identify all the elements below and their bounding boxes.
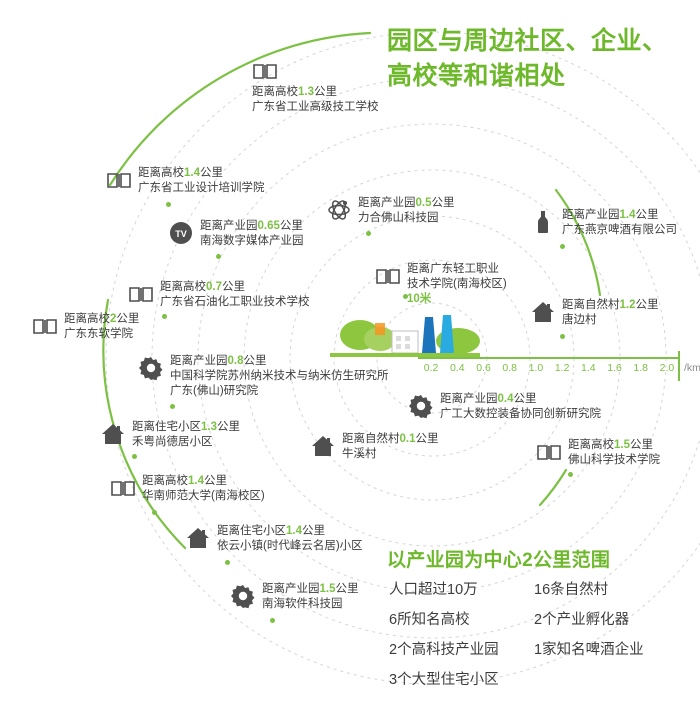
poi-unit: 公里 xyxy=(314,86,337,98)
poi-name: 牛溪村 xyxy=(342,448,377,460)
poi-name: 佛山科学技术学院 xyxy=(568,454,660,466)
poi-name: 唐边村 xyxy=(562,314,597,326)
poi-unit: 公里 xyxy=(204,475,227,487)
poi-unit: 公里 xyxy=(280,220,303,232)
summary-title: 以产业园为中心2公里范围 xyxy=(387,545,687,572)
axis-ticks: 0.2 0.4 0.6 0.8 1.0 1.2 1.4 1.6 1.8 2.0 xyxy=(418,362,680,374)
book-icon xyxy=(110,475,136,501)
poi-text: 距离住宅小区1.3公里 禾粤尚德居小区 xyxy=(132,420,240,450)
poi-guangdong-industrial-design-college[interactable]: 距离高校1.4公里 广东省工业设计培训学院 xyxy=(106,166,265,196)
poi-lihe-foshan-science-park[interactable]: 距离产业园0.5公里 力合佛山科技园 xyxy=(326,196,455,226)
book-icon xyxy=(375,263,401,289)
tv-icon: TV xyxy=(168,220,194,246)
poi-guangdong-petrochemical-school[interactable]: 距离高校0.7公里 广东省石油化工职业技术学校 xyxy=(128,280,310,310)
poi-distance-value: 0.65 xyxy=(258,220,280,232)
poi-text: 距离高校2公里 广东东软学院 xyxy=(64,312,139,342)
poi-prefix: 距离住宅小区 xyxy=(132,421,201,433)
summary-item: 6所知名高校 xyxy=(389,605,524,635)
poi-unit: 公里 xyxy=(302,525,325,537)
atom-icon xyxy=(326,197,352,223)
poi-name: 广东东软学院 xyxy=(64,328,133,340)
poi-name: 力合佛山科技园 xyxy=(358,212,439,224)
poi-prefix: 距离高校 xyxy=(160,281,206,293)
distance-axis: 0.2 0.4 0.6 0.8 1.0 1.2 1.4 1.6 1.8 2.0 … xyxy=(418,357,686,383)
poi-prefix: 距离产业园 xyxy=(200,220,258,232)
book-icon xyxy=(32,313,58,339)
poi-dot xyxy=(560,244,565,249)
poi-distance-value: 1.4 xyxy=(286,525,302,537)
poi-text: 距离高校0.7公里 广东省石油化工职业技术学校 xyxy=(160,280,310,310)
poi-name: 禾粤尚德居小区 xyxy=(132,436,213,448)
poi-distance-value: 0.7 xyxy=(206,281,222,293)
poi-dot xyxy=(170,404,175,409)
book-icon xyxy=(536,439,562,465)
poi-foshan-university[interactable]: 距离高校1.5公里 佛山科学技术学院 xyxy=(536,438,660,468)
axis-tick: 0.6 xyxy=(470,362,496,374)
poi-prefix: 距离产业园 xyxy=(170,355,228,367)
poi-name: 依云小镇(时代峰云名居)小区 xyxy=(217,540,363,552)
poi-prefix: 距离高校 xyxy=(138,167,184,179)
gear-icon xyxy=(138,355,164,381)
axis-tick: 1.2 xyxy=(549,362,575,374)
poi-scnu-nanhai[interactable]: 距离高校1.4公里 华南师范大学(南海校区) xyxy=(110,474,265,504)
poi-prefix: 距离高校 xyxy=(568,439,614,451)
axis-unit-label: /km xyxy=(684,362,700,374)
axis-tick: 0.2 xyxy=(418,362,444,374)
poi-text: 距离产业园1.5公里 南海软件科技园 xyxy=(262,582,359,612)
poi-center-campus[interactable]: 距离广东轻工职业 技术学院(南海校区) 10米 xyxy=(375,262,507,307)
poi-yanjing-beer[interactable]: 距离产业园1.4公里 广东燕京啤酒有限公司 xyxy=(530,208,677,238)
poi-name: 广东省工业设计培训学院 xyxy=(138,182,265,194)
poi-prefix: 距离产业园 xyxy=(440,393,498,405)
poi-guangdong-neusoft-college[interactable]: 距离高校2公里 广东东软学院 xyxy=(32,312,139,342)
gear-icon xyxy=(408,393,434,419)
poi-text: 距离广东轻工职业 技术学院(南海校区) 10米 xyxy=(407,262,507,307)
summary-item: 人口超过10万 xyxy=(389,575,524,605)
gear-icon xyxy=(230,583,256,609)
axis-tick: 1.8 xyxy=(628,362,654,374)
poi-prefix: 距离高校 xyxy=(142,475,188,487)
poi-distance-value: 0.8 xyxy=(228,355,244,367)
poi-distance-value: 10米 xyxy=(407,293,431,305)
axis-tick: 1.0 xyxy=(523,362,549,374)
poi-niuxi-village[interactable]: 距离自然村0.1公里 牛溪村 xyxy=(310,432,439,462)
book-icon xyxy=(128,281,154,307)
summary-stats: 人口超过10万 16条自然村 6所知名高校 2个产业孵化器 2个高科技产业园 1… xyxy=(389,575,694,695)
poi-unit: 公里 xyxy=(636,209,659,221)
poi-text: 距离自然村1.2公里 唐边村 xyxy=(562,298,659,328)
poi-distance-value: 0.4 xyxy=(498,393,514,405)
poi-name: 南海软件科技园 xyxy=(262,598,343,610)
poi-dot xyxy=(166,202,171,207)
infographic-canvas: 园区与周边社区、企业、高校等和谐相处 0.2 0.4 0.6 0.8 1.0 xyxy=(0,0,700,716)
poi-unit: 公里 xyxy=(636,299,659,311)
axis-tick: 0.8 xyxy=(497,362,523,374)
poi-nanhai-digital-media-park[interactable]: TV 距离产业园0.65公里 南海数字媒体产业园 xyxy=(168,219,304,249)
poi-unit: 公里 xyxy=(630,439,653,451)
poi-unit: 公里 xyxy=(336,583,359,595)
poi-dot xyxy=(225,560,230,565)
poi-distance-value: 1.3 xyxy=(298,86,314,98)
poi-cas-suzhou-nano-institute[interactable]: 距离产业园0.8公里 中国科学院苏州纳米技术与纳米仿生研究所 广东(佛山)研究院 xyxy=(138,354,389,399)
house-icon xyxy=(185,525,211,551)
poi-dot xyxy=(568,472,573,477)
poi-text: 距离产业园0.5公里 力合佛山科技园 xyxy=(358,196,455,226)
poi-distance-value: 1.4 xyxy=(188,475,204,487)
poi-distance-value: 1.5 xyxy=(320,583,336,595)
poi-dot xyxy=(403,294,408,299)
svg-text:TV: TV xyxy=(175,229,187,239)
poi-name: 南海数字媒体产业园 xyxy=(200,235,304,247)
poi-distance-value: 0.5 xyxy=(416,197,432,209)
poi-unit: 公里 xyxy=(217,421,240,433)
poi-text: 距离住宅小区1.4公里 依云小镇(时代峰云名居)小区 xyxy=(217,524,363,554)
poi-distance-value: 1.2 xyxy=(620,299,636,311)
poi-dot xyxy=(162,314,167,319)
summary-item: 16条自然村 xyxy=(534,575,684,605)
book-icon xyxy=(106,167,132,193)
poi-unit: 公里 xyxy=(514,393,537,405)
poi-name-line2: 广东(佛山)研究院 xyxy=(170,385,258,397)
poi-distance-value: 0.1 xyxy=(400,433,416,445)
poi-dot xyxy=(270,618,275,623)
summary-item: 2个高科技产业园 xyxy=(389,635,524,665)
bottle-icon xyxy=(530,209,556,235)
poi-prefix: 距离高校 xyxy=(64,313,110,325)
poi-guangdong-industrial-tech-school[interactable]: 距离高校1.3公里 广东省工业高级技工学校 xyxy=(252,85,379,115)
poi-name: 广东省工业高级技工学校 xyxy=(252,101,379,113)
poi-unit: 公里 xyxy=(116,313,139,325)
poi-prefix: 距离住宅小区 xyxy=(217,525,286,537)
poi-text: 距离高校1.5公里 佛山科学技术学院 xyxy=(568,438,660,468)
house-icon xyxy=(310,433,336,459)
axis-line xyxy=(418,357,680,359)
house-icon xyxy=(530,299,556,325)
poi-text: 距离产业园0.8公里 中国科学院苏州纳米技术与纳米仿生研究所 广东(佛山)研究院 xyxy=(170,354,389,399)
axis-tick: 2.0 xyxy=(654,362,680,374)
poi-dot xyxy=(560,334,565,339)
poi-prefix: 距离产业园 xyxy=(358,197,416,209)
poi-distance-value: 1.5 xyxy=(614,439,630,451)
poi-text: 距离产业园0.4公里 广工大数控装备协同创新研究院 xyxy=(440,392,601,422)
poi-prefix: 距离产业园 xyxy=(562,209,620,221)
poi-text: 距离产业园1.4公里 广东燕京啤酒有限公司 xyxy=(562,208,677,238)
poi-prefix: 距离自然村 xyxy=(342,433,400,445)
poi-text: 距离高校1.4公里 华南师范大学(南海校区) xyxy=(142,474,265,504)
poi-dot xyxy=(366,231,371,236)
summary-item: 3个大型住宅小区 xyxy=(389,665,524,695)
poi-yiyun-town-community[interactable]: 距离住宅小区1.4公里 依云小镇(时代峰云名居)小区 xyxy=(185,524,363,554)
poi-tangbian-village[interactable]: 距离自然村1.2公里 唐边村 xyxy=(530,298,659,328)
poi-unit: 公里 xyxy=(416,433,439,445)
poi-text: 距离产业园0.65公里 南海数字媒体产业园 xyxy=(200,219,304,249)
poi-name: 广东燕京啤酒有限公司 xyxy=(562,224,677,236)
poi-prefix: 距离广东轻工职业 xyxy=(407,263,499,275)
axis-tick: 1.6 xyxy=(601,362,627,374)
poi-text: 距离自然村0.1公里 牛溪村 xyxy=(342,432,439,462)
poi-heyue-shangdeju-community[interactable]: 距离住宅小区1.3公里 禾粤尚德居小区 xyxy=(100,420,240,450)
poi-name: 华南师范大学(南海校区) xyxy=(142,490,265,502)
page-title: 园区与周边社区、企业、高校等和谐相处 xyxy=(387,24,687,93)
summary-item: 2个产业孵化器 xyxy=(534,605,684,635)
poi-name: 技术学院(南海校区) xyxy=(407,278,507,290)
axis-tick: 0.4 xyxy=(444,362,470,374)
book-icon xyxy=(252,58,278,84)
poi-unit: 公里 xyxy=(222,281,245,293)
poi-distance-value: 1.4 xyxy=(184,167,200,179)
poi-prefix: 距离自然村 xyxy=(562,299,620,311)
summary-item: 1家知名啤酒企业 xyxy=(534,635,684,665)
poi-distance-value: 1.4 xyxy=(620,209,636,221)
poi-distance-value: 1.3 xyxy=(201,421,217,433)
poi-prefix: 距离高校 xyxy=(252,86,298,98)
axis-tick: 1.4 xyxy=(575,362,601,374)
poi-name: 广工大数控装备协同创新研究院 xyxy=(440,408,601,420)
poi-name: 广东省石油化工职业技术学校 xyxy=(160,296,310,308)
poi-gdut-cnc-institute[interactable]: 距离产业园0.4公里 广工大数控装备协同创新研究院 xyxy=(408,392,601,422)
poi-prefix: 距离产业园 xyxy=(262,583,320,595)
poi-text: 距离高校1.4公里 广东省工业设计培训学院 xyxy=(138,166,265,196)
poi-dot xyxy=(216,254,221,259)
poi-unit: 公里 xyxy=(432,197,455,209)
house-icon xyxy=(100,421,126,447)
poi-dot xyxy=(132,454,137,459)
poi-unit: 公里 xyxy=(244,355,267,367)
poi-dot xyxy=(152,510,157,515)
poi-nanhai-software-park[interactable]: 距离产业园1.5公里 南海软件科技园 xyxy=(230,582,359,612)
poi-unit: 公里 xyxy=(200,167,223,179)
poi-name: 中国科学院苏州纳米技术与纳米仿生研究所 xyxy=(170,370,389,382)
poi-text: 距离高校1.3公里 广东省工业高级技工学校 xyxy=(252,85,379,115)
